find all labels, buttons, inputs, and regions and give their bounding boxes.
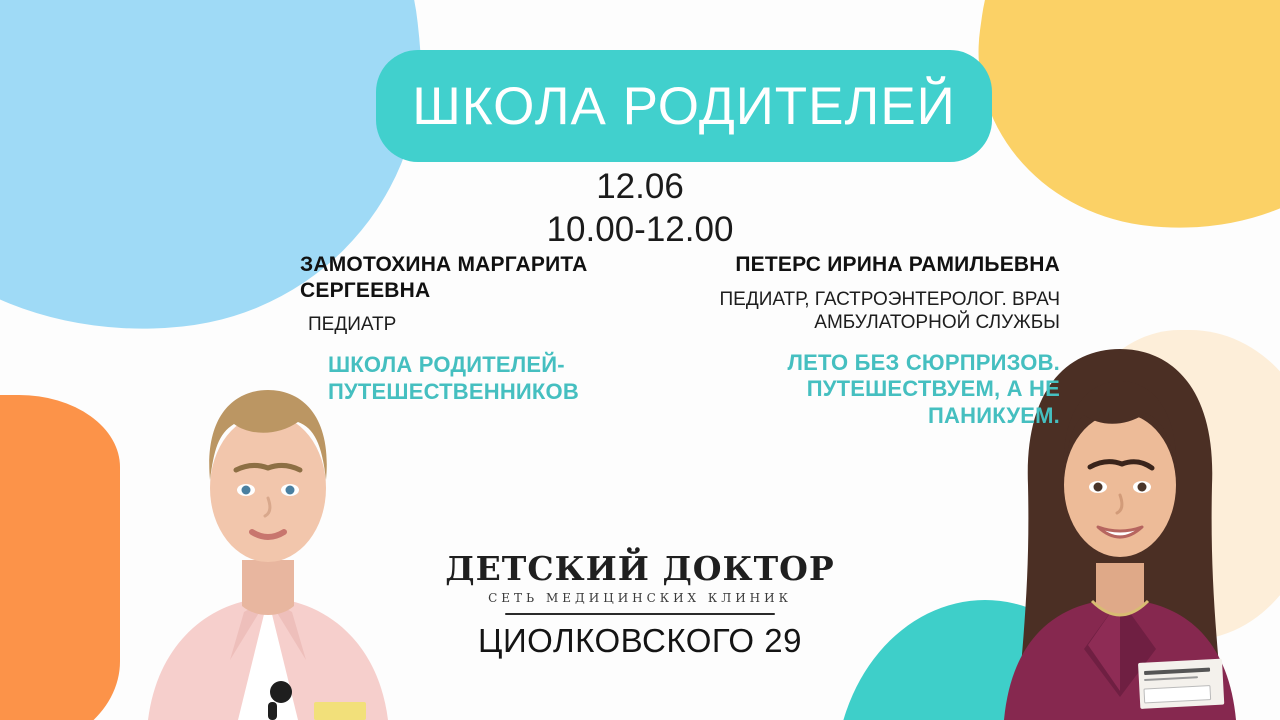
speaker-block-right: ПЕТЕРС ИРИНА РАМИЛЬЕВНА ПЕДИАТР, ГАСТРОЭ… — [700, 252, 1060, 429]
speaker-block-left: ЗАМОТОХИНА МАРГАРИТА СЕРГЕЕВНА ПЕДИАТР Ш… — [300, 252, 700, 405]
poster-title-banner: ШКОЛА РОДИТЕЛЕЙ — [376, 50, 992, 162]
event-time: 10.00-12.00 — [0, 209, 1280, 252]
clinic-address: ЦИОЛКОВСКОГО 29 — [0, 623, 1280, 659]
event-date: 12.06 — [0, 166, 1280, 209]
clinic-logo-block: ДЕТСКИЙ ДОКТОР СЕТЬ МЕДИЦИНСКИХ КЛИНИК Ц… — [0, 552, 1280, 659]
poster-title: ШКОЛА РОДИТЕЛЕЙ — [412, 80, 956, 133]
clinic-logo-wordmark: ДЕТСКИЙ ДОКТОР — [0, 552, 1280, 585]
speaker-topic-right: ЛЕТО БЕЗ СЮРПРИЗОВ. ПУТЕШЕСТВУЕМ, А НЕ П… — [700, 350, 1060, 429]
speaker-role-right: ПЕДИАТР, ГАСТРОЭНТЕРОЛОГ. ВРАЧ АМБУЛАТОР… — [700, 288, 1060, 334]
speaker-name-right: ПЕТЕРС ИРИНА РАМИЛЬЕВНА — [700, 252, 1060, 278]
clinic-logo-tagline: СЕТЬ МЕДИЦИНСКИХ КЛИНИК — [0, 592, 1280, 604]
speaker-topic-left: ШКОЛА РОДИТЕЛЕЙ-ПУТЕШЕСТВЕННИКОВ — [300, 352, 700, 405]
logo-divider-rule — [505, 613, 775, 615]
webinar-poster: ШКОЛА РОДИТЕЛЕЙ 12.06 10.00-12.00 ЗАМОТО… — [0, 0, 1280, 720]
event-datetime: 12.06 10.00-12.00 — [0, 166, 1280, 251]
speaker-name-left: ЗАМОТОХИНА МАРГАРИТА СЕРГЕЕВНА — [300, 252, 700, 303]
speaker-role-left: ПЕДИАТР — [300, 313, 700, 336]
